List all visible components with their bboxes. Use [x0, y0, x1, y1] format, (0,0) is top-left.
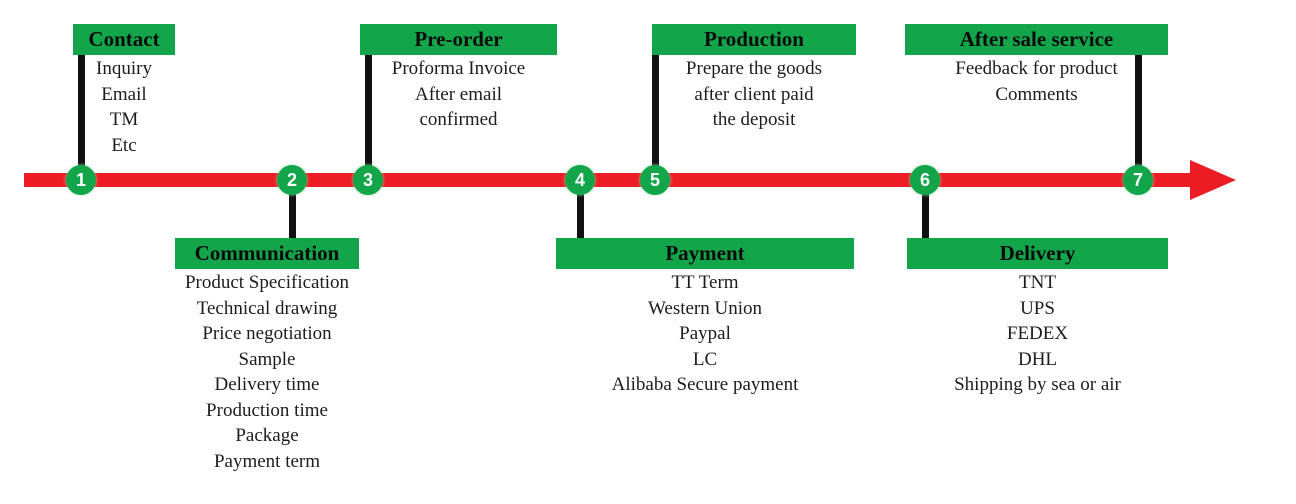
- list-item: Production time: [175, 398, 359, 424]
- list-item: TT Term: [556, 270, 854, 296]
- timeline-diagram: 1 2 3 4 5 6 7 Contact Inquiry Email TM E…: [0, 0, 1296, 504]
- stage-after-sale-service-items: Feedback for product Comments: [905, 55, 1168, 107]
- stage-after-sale-service: After sale service Feedback for product …: [905, 24, 1168, 107]
- list-item: FEDEX: [907, 321, 1168, 347]
- timeline-node-5[interactable]: 5: [640, 165, 670, 195]
- list-item: Alibaba Secure payment: [556, 372, 854, 398]
- list-item: DHL: [907, 347, 1168, 373]
- list-item: UPS: [907, 296, 1168, 322]
- list-item: Etc: [73, 133, 175, 159]
- list-item: after client paid: [652, 82, 856, 108]
- list-item: Payment term: [175, 449, 359, 475]
- stage-after-sale-service-header: After sale service: [905, 24, 1168, 55]
- stage-payment-header: Payment: [556, 238, 854, 269]
- list-item: Email: [73, 82, 175, 108]
- stage-communication-items: Product Specification Technical drawing …: [175, 269, 359, 474]
- list-item: Prepare the goods: [652, 56, 856, 82]
- list-item: Price negotiation: [175, 321, 359, 347]
- stage-pre-order: Pre-order Proforma Invoice After email c…: [360, 24, 557, 133]
- list-item: Sample: [175, 347, 359, 373]
- list-item: TNT: [907, 270, 1168, 296]
- timeline-axis: [24, 173, 1214, 187]
- stage-contact-items: Inquiry Email TM Etc: [73, 55, 175, 158]
- timeline-node-3[interactable]: 3: [353, 165, 383, 195]
- stage-pre-order-header: Pre-order: [360, 24, 557, 55]
- stage-payment-items: TT Term Western Union Paypal LC Alibaba …: [556, 269, 854, 398]
- timeline-node-4[interactable]: 4: [565, 165, 595, 195]
- timeline-node-7[interactable]: 7: [1123, 165, 1153, 195]
- stage-payment: Payment TT Term Western Union Paypal LC …: [556, 238, 854, 398]
- stage-delivery-items: TNT UPS FEDEX DHL Shipping by sea or air: [907, 269, 1168, 398]
- list-item: Western Union: [556, 296, 854, 322]
- list-item: Inquiry: [73, 56, 175, 82]
- stage-contact: Contact Inquiry Email TM Etc: [73, 24, 175, 158]
- list-item: Proforma Invoice: [360, 56, 557, 82]
- stage-production: Production Prepare the goods after clien…: [652, 24, 856, 133]
- stage-delivery: Delivery TNT UPS FEDEX DHL Shipping by s…: [907, 238, 1168, 398]
- list-item: Technical drawing: [175, 296, 359, 322]
- timeline-node-2[interactable]: 2: [277, 165, 307, 195]
- list-item: TM: [73, 107, 175, 133]
- list-item: Shipping by sea or air: [907, 372, 1168, 398]
- stage-production-header: Production: [652, 24, 856, 55]
- list-item: Feedback for product: [905, 56, 1168, 82]
- stage-delivery-header: Delivery: [907, 238, 1168, 269]
- list-item: After email: [360, 82, 557, 108]
- list-item: Delivery time: [175, 372, 359, 398]
- stage-communication-header: Communication: [175, 238, 359, 269]
- list-item: LC: [556, 347, 854, 373]
- list-item: Product Specification: [175, 270, 359, 296]
- stage-production-items: Prepare the goods after client paid the …: [652, 55, 856, 133]
- list-item: Package: [175, 423, 359, 449]
- list-item: Paypal: [556, 321, 854, 347]
- right-arrow-icon: [1190, 160, 1236, 200]
- stage-communication: Communication Product Specification Tech…: [175, 238, 359, 474]
- list-item: Comments: [905, 82, 1168, 108]
- stage-contact-header: Contact: [73, 24, 175, 55]
- timeline-node-6[interactable]: 6: [910, 165, 940, 195]
- list-item: confirmed: [360, 107, 557, 133]
- list-item: the deposit: [652, 107, 856, 133]
- stage-pre-order-items: Proforma Invoice After email confirmed: [360, 55, 557, 133]
- timeline-node-1[interactable]: 1: [66, 165, 96, 195]
